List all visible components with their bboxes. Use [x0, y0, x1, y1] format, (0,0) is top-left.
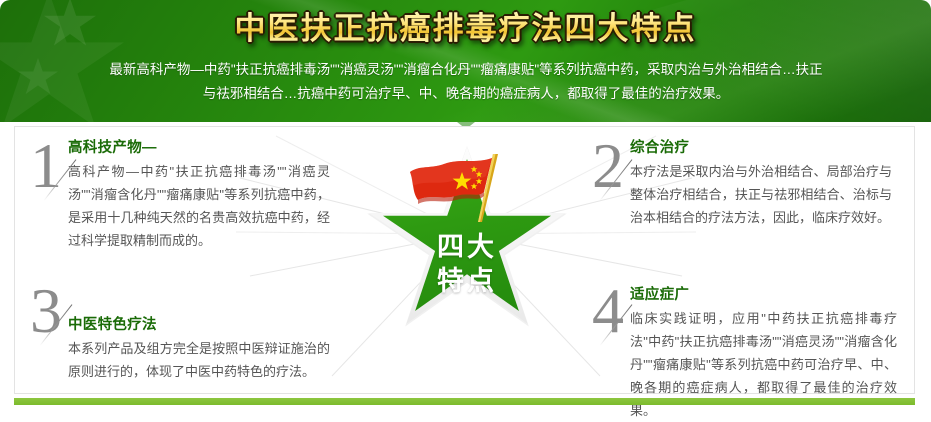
feature-body-2: 本疗法是采取内治与外治相结合、局部治疗与整体治疗相结合，扶正与祛邪相结合、治标与…: [630, 160, 892, 229]
star-caption: 四大 特点: [367, 230, 567, 298]
feature-heading-1: 高科技产物—: [68, 138, 330, 158]
feature-item-2: 2 综合治疗 本疗法是采取内治与外治相结合、局部治疗与整体治疗相结合，扶正与祛邪…: [592, 138, 892, 229]
china-flag-icon: [400, 152, 508, 226]
star-caption-line2: 特点: [367, 264, 567, 298]
feature-heading-4: 适应症广: [630, 285, 897, 305]
header-banner: 中医扶正抗癌排毒疗法四大特点 最新高科产物—中药"扶正抗癌排毒汤""消癌灵汤""…: [0, 0, 931, 122]
feature-item-1: 1 高科技产物— 高科产物—中药"扶正抗癌排毒汤""消癌灵汤""消瘤含化丹""瘤…: [30, 138, 330, 252]
feature-body-1: 高科产物—中药"扶正抗癌排毒汤""消癌灵汤""消瘤含化丹""瘤痛康贴"等系列抗癌…: [68, 160, 330, 252]
header-description: 最新高科产物—中药"扶正抗癌排毒汤""消癌灵汤""消瘤合化丹""瘤痛康贴"等系列…: [108, 58, 824, 106]
star-caption-line1: 四大: [367, 230, 567, 264]
feature-body-3: 本系列产品及组方完全是按照中医辩证施治的原则进行的，体现了中医中药特色的疗法。: [68, 337, 330, 383]
page-title: 中医扶正抗癌排毒疗法四大特点: [0, 8, 931, 50]
infographic-root: 中医扶正抗癌排毒疗法四大特点 最新高科产物—中药"扶正抗癌排毒汤""消癌灵汤""…: [0, 0, 931, 409]
feature-heading-3: 中医特色疗法: [68, 315, 330, 335]
feature-text-3: 中医特色疗法 本系列产品及组方完全是按照中医辩证施治的原则进行的，体现了中医中药…: [68, 285, 330, 383]
feature-number-3: 3: [30, 280, 62, 342]
feature-item-3: 3 中医特色疗法 本系列产品及组方完全是按照中医辩证施治的原则进行的，体现了中医…: [30, 285, 330, 383]
feature-text-1: 高科技产物— 高科产物—中药"扶正抗癌排毒汤""消癌灵汤""消瘤含化丹""瘤痛康…: [68, 138, 330, 252]
feature-text-2: 综合治疗 本疗法是采取内治与外治相结合、局部治疗与整体治疗相结合，扶正与祛邪相结…: [630, 138, 892, 229]
feature-heading-2: 综合治疗: [630, 138, 892, 158]
feature-number-1: 1: [30, 135, 62, 197]
footer-accent-bar: [14, 398, 915, 405]
center-star-graphic: 四大 特点: [367, 146, 567, 336]
